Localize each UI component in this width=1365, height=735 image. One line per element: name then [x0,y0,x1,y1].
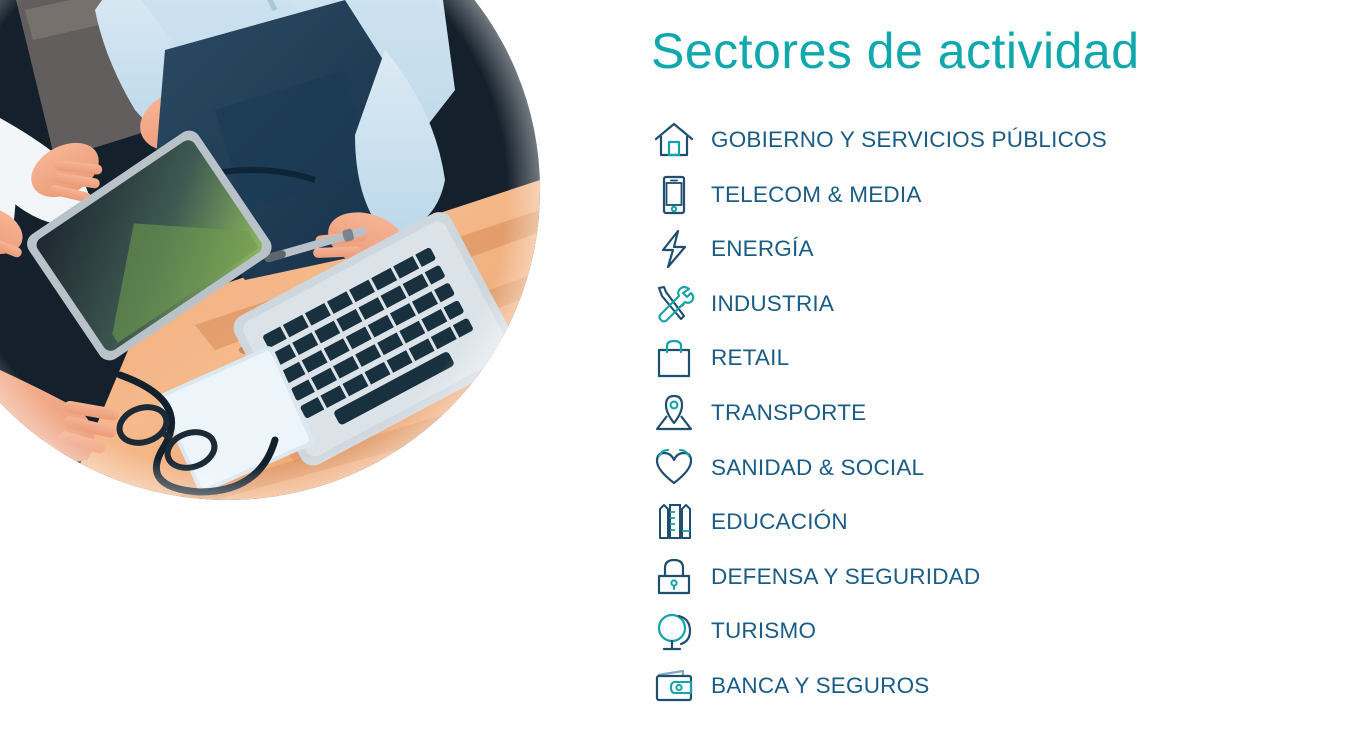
shopping-bag-icon [651,336,697,382]
globe-icon [651,609,697,655]
list-item[interactable]: BANCA Y SEGUROS [651,659,1365,714]
list-item-label: EDUCACIÓN [711,511,848,534]
hero-photo [0,0,540,500]
list-item-label: TRANSPORTE [711,402,866,425]
list-item[interactable]: TELECOM & MEDIA [651,168,1365,223]
list-item[interactable]: GOBIERNO Y SERVICIOS PÚBLICOS [651,113,1365,168]
list-item[interactable]: TURISMO [651,604,1365,659]
list-item-label: DEFENSA Y SEGURIDAD [711,566,980,589]
list-item[interactable]: ENERGÍA [651,222,1365,277]
list-item[interactable]: EDUCACIÓN [651,495,1365,550]
slide-root: Sectores de actividad GOBIERNO Y SERVICI… [0,0,1365,735]
map-pin-icon [651,390,697,436]
page-title: Sectores de actividad [651,22,1140,80]
list-item[interactable]: DEFENSA Y SEGURIDAD [651,550,1365,605]
list-item-label: INDUSTRIA [711,293,834,316]
list-item[interactable]: SANIDAD & SOCIAL [651,441,1365,496]
heart-icon [651,445,697,491]
wallet-icon [651,663,697,709]
list-item[interactable]: TRANSPORTE [651,386,1365,441]
list-item-label: RETAIL [711,347,789,370]
smartphone-icon [651,172,697,218]
padlock-icon [651,554,697,600]
content-column: Sectores de actividad GOBIERNO Y SERVICI… [651,0,1365,735]
list-item-label: TELECOM & MEDIA [711,184,922,207]
list-item-label: GOBIERNO Y SERVICIOS PÚBLICOS [711,129,1107,152]
list-item[interactable]: RETAIL [651,331,1365,386]
list-item-label: ENERGÍA [711,238,814,261]
ruler-pencil-icon [651,499,697,545]
house-icon [651,117,697,163]
list-item-label: TURISMO [711,620,816,643]
hero-photo-illustration [0,0,540,500]
list-item-label: BANCA Y SEGUROS [711,675,930,698]
list-item[interactable]: INDUSTRIA [651,277,1365,332]
list-item-label: SANIDAD & SOCIAL [711,457,924,480]
sector-list: GOBIERNO Y SERVICIOS PÚBLICOS TELECOM & … [651,113,1365,714]
wrench-screwdriver-icon [651,281,697,327]
lightning-bolt-icon [651,226,697,272]
